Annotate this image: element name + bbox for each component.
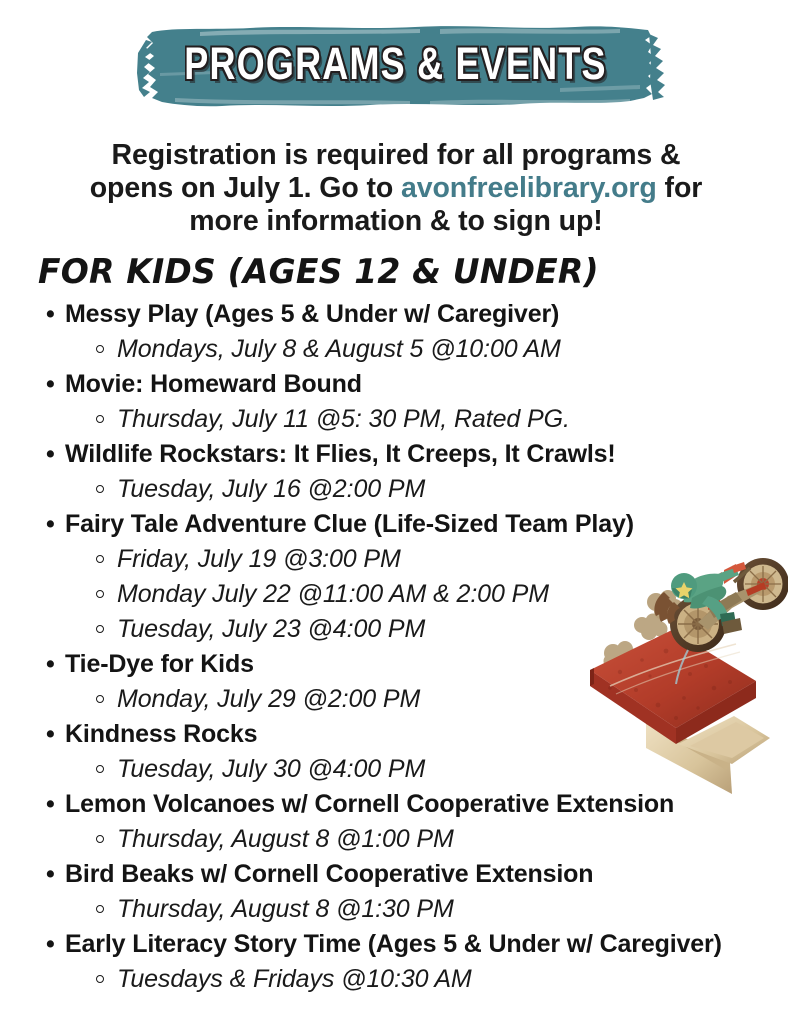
program-title: •Kindness Rocks bbox=[65, 717, 769, 752]
program-title: •Bird Beaks w/ Cornell Cooperative Exten… bbox=[65, 857, 769, 892]
list-bullet-icon: • bbox=[46, 437, 55, 472]
registration-line-2-after: for bbox=[657, 172, 703, 204]
sub-list-bullet-icon bbox=[96, 625, 104, 633]
program-item: •Kindness RocksTuesday, July 30 @4:00 PM bbox=[34, 717, 769, 787]
sub-list-bullet-icon bbox=[96, 695, 104, 703]
program-session: Thursday, August 8 @1:30 PM bbox=[65, 892, 769, 927]
program-list: •Messy Play (Ages 5 & Under w/ Caregiver… bbox=[34, 297, 769, 997]
program-session: Mondays, July 8 & August 5 @10:00 AM bbox=[65, 332, 769, 367]
registration-line-1: Registration is required for all program… bbox=[112, 139, 681, 171]
flyer-page: PROGRAMS & EVENTS Registration is requir… bbox=[0, 0, 791, 1024]
program-session-text: Tuesday, July 16 @2:00 PM bbox=[117, 475, 425, 503]
program-session: Tuesdays & Fridays @10:30 AM bbox=[65, 962, 769, 997]
program-session-list: Friday, July 19 @3:00 PMMonday July 22 @… bbox=[65, 542, 769, 647]
program-session: Tuesday, July 16 @2:00 PM bbox=[65, 472, 769, 507]
program-session-text: Monday July 22 @11:00 AM & 2:00 PM bbox=[117, 580, 549, 608]
sub-list-bullet-icon bbox=[96, 555, 104, 563]
registration-line-2-before: opens on July 1. Go to bbox=[90, 172, 401, 204]
program-session-text: Thursday, July 11 @5: 30 PM, Rated PG. bbox=[117, 405, 570, 433]
list-bullet-icon: • bbox=[46, 647, 55, 682]
program-title-text: Kindness Rocks bbox=[65, 720, 257, 748]
program-session-text: Mondays, July 8 & August 5 @10:00 AM bbox=[117, 335, 561, 363]
program-title-text: Movie: Homeward Bound bbox=[65, 370, 362, 398]
program-session-list: Tuesday, July 16 @2:00 PM bbox=[65, 472, 769, 507]
brush-stroke-shape bbox=[0, 18, 791, 110]
program-session-list: Thursday, August 8 @1:30 PM bbox=[65, 892, 769, 927]
program-title: •Movie: Homeward Bound bbox=[65, 367, 769, 402]
list-bullet-icon: • bbox=[46, 507, 55, 542]
list-bullet-icon: • bbox=[46, 927, 55, 962]
program-session: Tuesday, July 23 @4:00 PM bbox=[65, 612, 769, 647]
program-session: Thursday, July 11 @5: 30 PM, Rated PG. bbox=[65, 402, 769, 437]
registration-line-3: more information & to sign up! bbox=[189, 205, 602, 237]
program-title-text: Fairy Tale Adventure Clue (Life-Sized Te… bbox=[65, 510, 634, 538]
program-session-text: Tuesday, July 23 @4:00 PM bbox=[117, 615, 425, 643]
library-website-link[interactable]: avonfreelibrary.org bbox=[401, 172, 657, 204]
program-session: Monday, July 29 @2:00 PM bbox=[65, 682, 769, 717]
program-session: Thursday, August 8 @1:00 PM bbox=[65, 822, 769, 857]
program-item: •Bird Beaks w/ Cornell Cooperative Exten… bbox=[34, 857, 769, 927]
program-title: •Lemon Volcanoes w/ Cornell Cooperative … bbox=[65, 787, 769, 822]
program-session-list: Tuesday, July 30 @4:00 PM bbox=[65, 752, 769, 787]
program-item: •Early Literacy Story Time (Ages 5 & Und… bbox=[34, 927, 769, 997]
list-bullet-icon: • bbox=[46, 367, 55, 402]
sub-list-bullet-icon bbox=[96, 590, 104, 598]
program-title-text: Bird Beaks w/ Cornell Cooperative Extens… bbox=[65, 860, 593, 888]
program-session: Monday July 22 @11:00 AM & 2:00 PM bbox=[65, 577, 769, 612]
program-item: •Messy Play (Ages 5 & Under w/ Caregiver… bbox=[34, 297, 769, 367]
program-item: •Movie: Homeward BoundThursday, July 11 … bbox=[34, 367, 769, 437]
list-bullet-icon: • bbox=[46, 787, 55, 822]
program-session-list: Thursday, August 8 @1:00 PM bbox=[65, 822, 769, 857]
sub-list-bullet-icon bbox=[96, 485, 104, 493]
program-item: •Fairy Tale Adventure Clue (Life-Sized T… bbox=[34, 507, 769, 647]
program-title-text: Early Literacy Story Time (Ages 5 & Unde… bbox=[65, 930, 722, 958]
program-session-list: Mondays, July 8 & August 5 @10:00 AM bbox=[65, 332, 769, 367]
sub-list-bullet-icon bbox=[96, 975, 104, 983]
list-bullet-icon: • bbox=[46, 857, 55, 892]
program-item: •Lemon Volcanoes w/ Cornell Cooperative … bbox=[34, 787, 769, 857]
header-banner: PROGRAMS & EVENTS bbox=[0, 18, 791, 110]
program-title: •Fairy Tale Adventure Clue (Life-Sized T… bbox=[65, 507, 769, 542]
program-title: •Early Literacy Story Time (Ages 5 & Und… bbox=[65, 927, 769, 962]
sub-list-bullet-icon bbox=[96, 345, 104, 353]
program-item: •Wildlife Rockstars: It Flies, It Creeps… bbox=[34, 437, 769, 507]
program-session-text: Tuesday, July 30 @4:00 PM bbox=[117, 755, 425, 783]
program-item: •Tie-Dye for KidsMonday, July 29 @2:00 P… bbox=[34, 647, 769, 717]
sub-list-bullet-icon bbox=[96, 415, 104, 423]
program-session-text: Thursday, August 8 @1:00 PM bbox=[117, 825, 454, 853]
program-title-text: Tie-Dye for Kids bbox=[65, 650, 254, 678]
program-title: •Messy Play (Ages 5 & Under w/ Caregiver… bbox=[65, 297, 769, 332]
list-bullet-icon: • bbox=[46, 717, 55, 752]
program-title-text: Lemon Volcanoes w/ Cornell Cooperative E… bbox=[65, 790, 674, 818]
sub-list-bullet-icon bbox=[96, 765, 104, 773]
program-session-list: Thursday, July 11 @5: 30 PM, Rated PG. bbox=[65, 402, 769, 437]
program-session-list: Tuesdays & Fridays @10:30 AM bbox=[65, 962, 769, 997]
program-title-text: Messy Play (Ages 5 & Under w/ Caregiver) bbox=[65, 300, 559, 328]
program-session: Friday, July 19 @3:00 PM bbox=[65, 542, 769, 577]
registration-note: Registration is required for all program… bbox=[72, 139, 720, 238]
list-bullet-icon: • bbox=[46, 297, 55, 332]
program-title: •Wildlife Rockstars: It Flies, It Creeps… bbox=[65, 437, 769, 472]
program-title-text: Wildlife Rockstars: It Flies, It Creeps,… bbox=[65, 440, 616, 468]
sub-list-bullet-icon bbox=[96, 905, 104, 913]
sub-list-bullet-icon bbox=[96, 835, 104, 843]
program-session-text: Monday, July 29 @2:00 PM bbox=[117, 685, 420, 713]
program-session: Tuesday, July 30 @4:00 PM bbox=[65, 752, 769, 787]
program-session-text: Tuesdays & Fridays @10:30 AM bbox=[117, 965, 472, 993]
program-session-text: Thursday, August 8 @1:30 PM bbox=[117, 895, 454, 923]
program-title: •Tie-Dye for Kids bbox=[65, 647, 769, 682]
program-session-text: Friday, July 19 @3:00 PM bbox=[117, 545, 401, 573]
program-session-list: Monday, July 29 @2:00 PM bbox=[65, 682, 769, 717]
section-heading-for-kids: FOR KIDS (AGES 12 & UNDER) bbox=[38, 252, 599, 292]
